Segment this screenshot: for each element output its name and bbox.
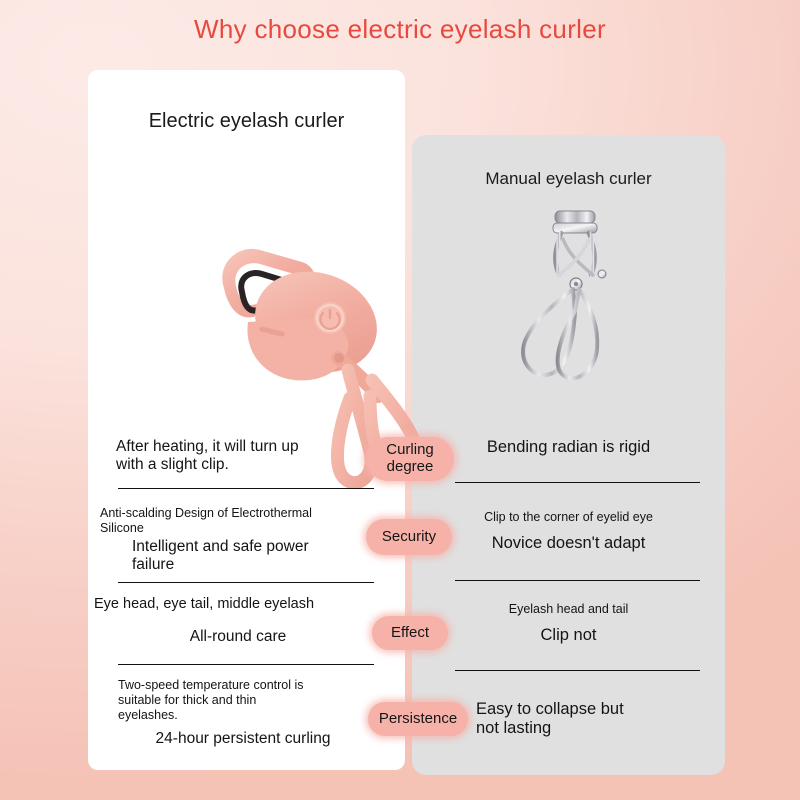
- right-row-3-big: Clip not: [412, 626, 725, 645]
- badge-curling-degree[interactable]: Curling degree: [366, 437, 454, 481]
- manual-panel-heading: Manual eyelash curler: [412, 169, 725, 189]
- left-row-2-big: Intelligent and safe power failure: [132, 538, 382, 575]
- electric-panel-heading: Electric eyelash curler: [88, 110, 405, 133]
- infographic-root: Why choose electric eyelash curler Manua…: [0, 0, 800, 800]
- left-row-3-small: Eye head, eye tail, middle eyelash: [94, 596, 399, 613]
- right-row-2-small: Clip to the corner of eyelid eye: [412, 510, 725, 525]
- badge-effect[interactable]: Effect: [372, 616, 448, 650]
- left-separator-3: [118, 664, 374, 665]
- left-row-4-small: Two-speed temperature control is suitabl…: [118, 678, 388, 722]
- electric-feature-list: After heating, it will turn up with a sl…: [88, 430, 405, 770]
- left-row-2-small: Anti-scalding Design of Electrothermal S…: [100, 506, 400, 536]
- left-row-4-big: 24-hour persistent curling: [88, 730, 398, 748]
- right-separator-2: [455, 580, 700, 581]
- badge-security[interactable]: Security: [366, 519, 452, 555]
- right-row-1-big: Bending radian is rigid: [412, 438, 725, 457]
- left-row-1-big: After heating, it will turn up with a sl…: [116, 438, 366, 475]
- left-separator-2: [118, 582, 374, 583]
- manual-eyelash-curler-icon: [497, 205, 647, 395]
- right-separator-1: [455, 482, 700, 483]
- right-row-2-big: Novice doesn't adapt: [412, 534, 725, 553]
- badge-persistence[interactable]: Persistence: [368, 702, 468, 736]
- right-separator-3: [455, 670, 700, 671]
- page-title: Why choose electric eyelash curler: [0, 14, 800, 45]
- left-row-3-big: All-round care: [88, 628, 388, 646]
- right-row-3-small: Eyelash head and tail: [412, 602, 725, 617]
- left-separator-1: [118, 488, 374, 489]
